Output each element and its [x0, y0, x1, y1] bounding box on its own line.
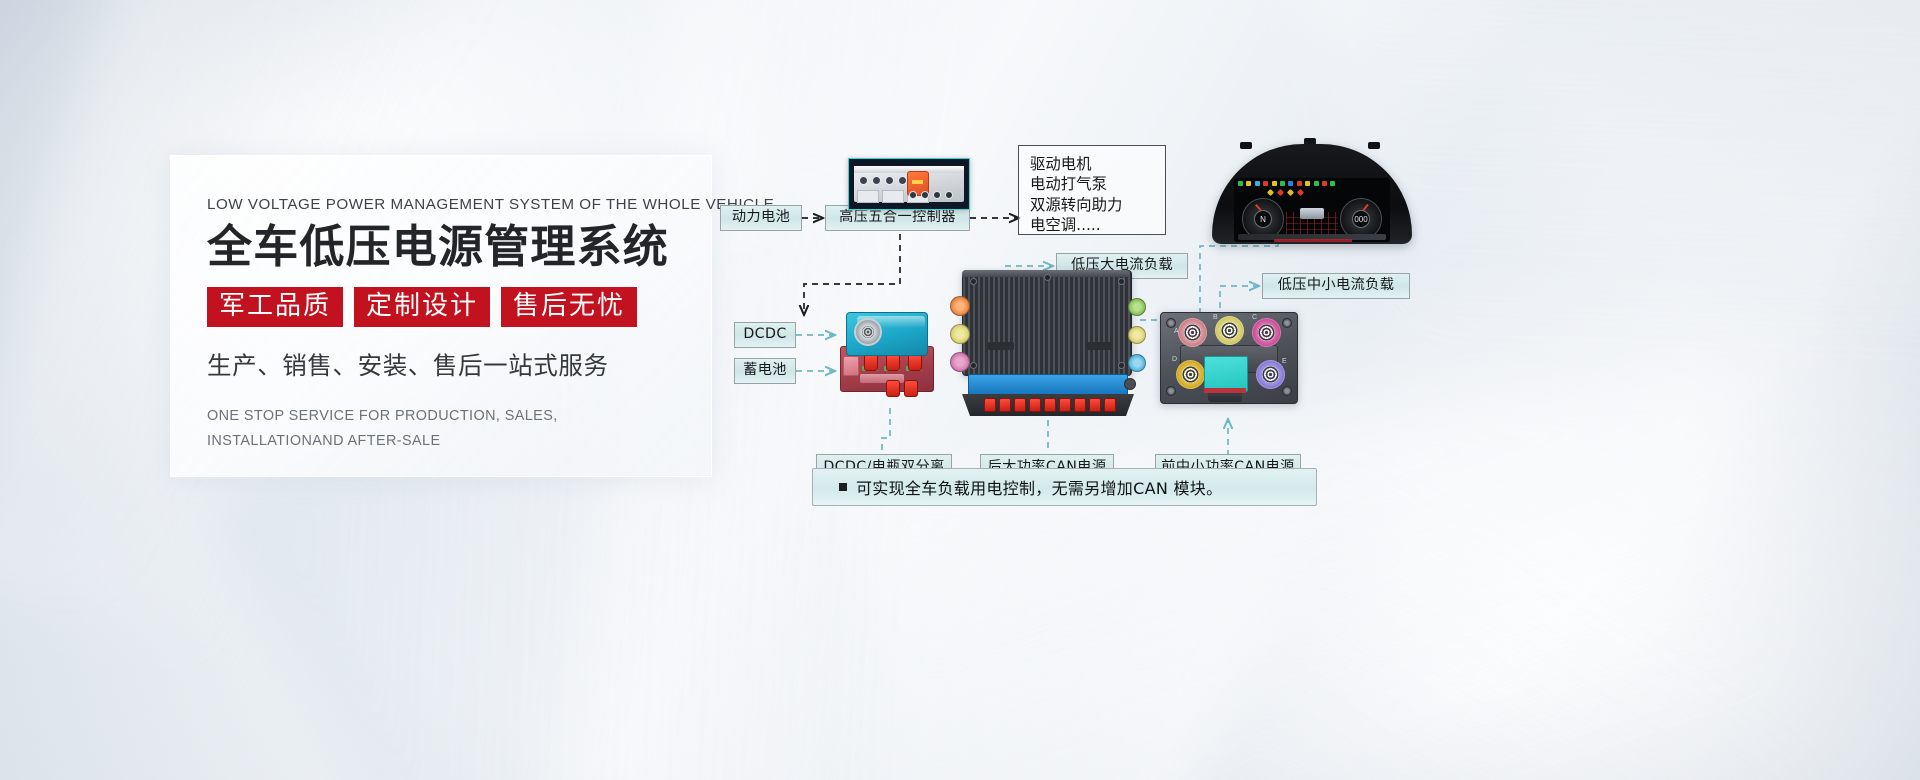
hv5-slot [857, 190, 879, 203]
eyebrow-text: LOW VOLTAGE POWER MANAGEMENT SYSTEM OF T… [207, 196, 687, 213]
dcdcmod-round-connector [854, 318, 882, 346]
cluster-screen: N 000 [1234, 178, 1390, 242]
note-box: 可实现全车负载用电控制，无需另增加CAN 模块。 [812, 468, 1317, 506]
cluster-telltale [1314, 181, 1319, 186]
canbig-terminal [1014, 398, 1026, 412]
canbig-mount-ear [1124, 378, 1136, 390]
cluster-warning-strip [1274, 239, 1352, 242]
dcdcmod-terminal-post [904, 380, 918, 397]
dcdcmod-terminal-post [864, 354, 878, 371]
canbig-vent [1086, 342, 1112, 350]
cluster-telltale [1305, 181, 1310, 186]
dcdc-battery-separation-module-photo [840, 312, 936, 398]
canbig-screw [970, 362, 977, 369]
hv5-slot [882, 190, 904, 203]
cluster-center-display [1286, 194, 1338, 236]
cansmall-port-letter-d: D [1172, 356, 1177, 363]
cansmall-pin-array [1184, 324, 1201, 341]
system-diagram: 动力电池 高压五合一控制器 DCDC 蓄电池 低压大电流负载 低压中小电流负载 … [700, 120, 1910, 540]
line-hv5-to-dcdc [804, 234, 900, 314]
canbig-side-connector-yellow [950, 324, 970, 344]
cansmall-bolt [1166, 386, 1176, 396]
cansmall-port-letter-e: E [1282, 358, 1287, 365]
label-power-battery[interactable]: 动力电池 [720, 205, 802, 231]
subtitle-english-line1: ONE STOP SERVICE FOR PRODUCTION, SALES, [207, 404, 687, 429]
banner-stage: LOW VOLTAGE POWER MANAGEMENT SYSTEM OF T… [0, 0, 1920, 780]
tagline-text: 生产、销售、安装、售后一站式服务 [207, 347, 687, 382]
cluster-telltale [1322, 181, 1327, 186]
cansmall-bottom-connector [1208, 393, 1242, 402]
rear-can-power-module-photo [958, 270, 1138, 418]
hv5-plug [859, 176, 868, 185]
label-dcdc[interactable]: DCDC [734, 322, 796, 348]
label-small-current-load[interactable]: 低压中小电流负载 [1262, 273, 1410, 299]
cluster-shell: N 000 [1212, 144, 1412, 244]
front-can-power-module-photo: A B C D E [1160, 312, 1296, 408]
cansmall-connector-d [1176, 360, 1205, 389]
cansmall-bolt [1166, 318, 1176, 328]
cluster-telltale [1238, 181, 1243, 186]
cansmall-connector-a [1178, 318, 1207, 347]
hv-five-in-one-controller-photo [848, 158, 970, 210]
cansmall-connector-b [1215, 316, 1244, 345]
canbig-screw [1118, 278, 1125, 285]
square-bullet-icon [839, 483, 847, 491]
cansmall-cyan-cover [1204, 356, 1248, 392]
cansmall-bolt [1282, 318, 1292, 328]
cluster-telltale [1272, 181, 1277, 186]
dcdcmod-terminal-post [886, 354, 900, 371]
canbig-terminal [984, 398, 996, 412]
canbig-terminal [1104, 398, 1116, 412]
badge-custom-design: 定制设计 [354, 287, 490, 327]
hv5-plug [921, 191, 929, 199]
line-cansmall-to-smallload [1220, 286, 1258, 308]
subtitle-english: ONE STOP SERVICE FOR PRODUCTION, SALES, … [207, 404, 687, 454]
cansmall-port-letter-a: A [1174, 328, 1179, 335]
subtitle-english-line2: INSTALLATIONAND AFTER-SALE [207, 429, 687, 454]
canbig-screw [1044, 274, 1051, 281]
canbig-screw [1118, 362, 1125, 369]
canbig-side-connector-yellow2 [1128, 326, 1146, 344]
dcdcmod-side-connector [843, 356, 859, 376]
note-text: 可实现全车负载用电控制，无需另增加CAN 模块。 [856, 475, 1222, 499]
hv5-plug-row-lower [909, 191, 953, 199]
cansmall-pin-array [1262, 366, 1279, 383]
canbig-terminal [999, 398, 1011, 412]
hv5-plug [909, 191, 917, 199]
cansmall-pin-array [1182, 366, 1199, 383]
canbig-terminal [1074, 398, 1086, 412]
cluster-mount-tab [1368, 142, 1380, 149]
canbig-heatsink [962, 270, 1132, 376]
cansmall-pin-array [1258, 324, 1275, 341]
headline-card-content: LOW VOLTAGE POWER MANAGEMENT SYSTEM OF T… [207, 196, 687, 453]
cluster-telltale-row [1238, 181, 1335, 186]
dcdcmod-terminal-post [886, 380, 900, 397]
badge-after-sales: 售后无忧 [501, 287, 637, 327]
loads-list-box: 驱动电机 电动打气泵 双源转向助力 电空调..... [1018, 145, 1166, 235]
cluster-telltale [1330, 181, 1335, 186]
hv5-plug [898, 176, 907, 185]
cluster-vehicle-icon [1300, 208, 1324, 219]
canbig-side-connector-green [1128, 298, 1146, 316]
instrument-cluster-photo: N 000 [1212, 138, 1412, 248]
cansmall-pin-array [1221, 322, 1238, 339]
canbig-vent [988, 342, 1014, 350]
cluster-gear-indicator: N [1254, 210, 1272, 228]
hv5-plug [872, 176, 881, 185]
canbig-terminal [1089, 398, 1101, 412]
canbig-screw [970, 278, 977, 285]
cluster-telltale [1297, 181, 1302, 186]
hv5-plug [885, 176, 894, 185]
cluster-telltale [1277, 189, 1284, 196]
cluster-telltale [1246, 181, 1251, 186]
canbig-side-connector-pink [950, 352, 970, 372]
hv5-plug [945, 191, 953, 199]
canbig-side-connector-orange [950, 296, 970, 316]
dcdcmod-terminal-post [908, 354, 922, 371]
canbig-terminal-row [984, 398, 1116, 412]
headline-card: LOW VOLTAGE POWER MANAGEMENT SYSTEM OF T… [170, 155, 712, 477]
cansmall-port-letter-b: B [1213, 314, 1218, 321]
cluster-odometer: 000 [1352, 210, 1370, 228]
canbig-terminal [1029, 398, 1041, 412]
cluster-telltale [1280, 181, 1285, 186]
canbig-side-connector-blue [1128, 354, 1146, 372]
cansmall-bolt [1282, 386, 1292, 396]
page-title: 全车低压电源管理系统 [207, 223, 687, 272]
canbig-terminal [1059, 398, 1071, 412]
canbig-terminal [1044, 398, 1056, 412]
cansmall-connector-c [1252, 318, 1281, 347]
hv5-plug [933, 191, 941, 199]
cluster-telltale [1288, 181, 1293, 186]
badge-group: 军工品质 定制设计 售后无忧 [207, 287, 687, 327]
cluster-telltale [1255, 181, 1260, 186]
cluster-telltale [1263, 181, 1268, 186]
cluster-telltale [1267, 189, 1274, 196]
cluster-mount-tab [1240, 142, 1252, 149]
cansmall-connector-e [1256, 360, 1285, 389]
cansmall-port-letter-c: C [1252, 314, 1257, 321]
badge-military-quality: 军工品质 [207, 287, 343, 327]
label-storage-battery[interactable]: 蓄电池 [734, 358, 796, 384]
line-module-to-caption [882, 408, 890, 456]
